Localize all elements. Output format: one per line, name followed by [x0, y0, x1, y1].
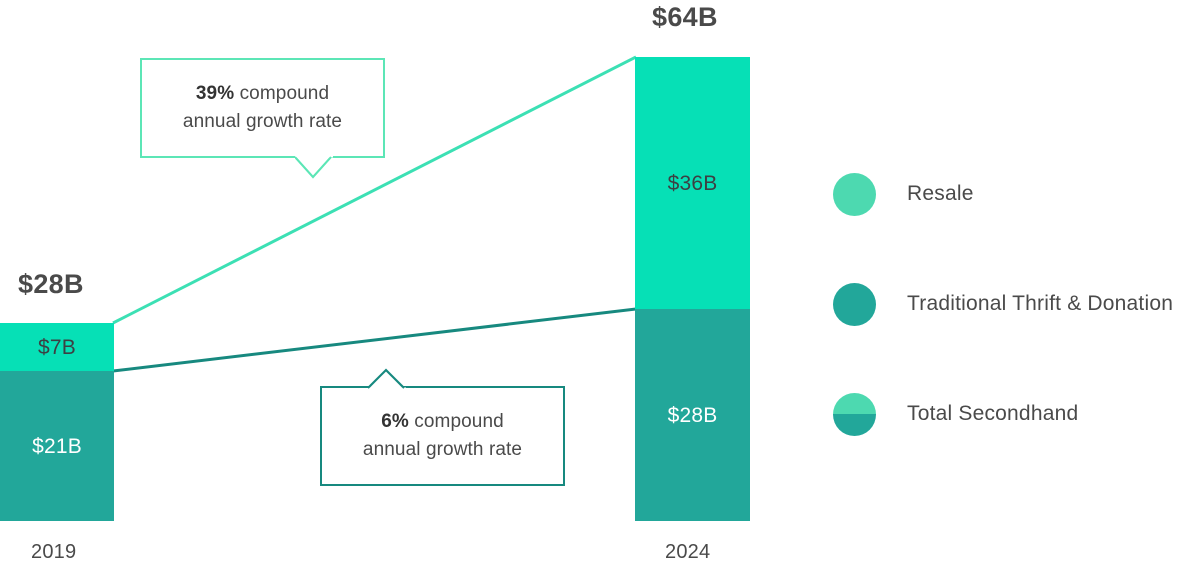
callout-resale-line2: annual growth rate — [183, 108, 342, 137]
legend-label-resale: Resale — [907, 182, 974, 206]
legend-label-total: Total Secondhand — [907, 402, 1078, 426]
callout-resale-line1-rest: compound — [234, 83, 329, 104]
resale-dot-icon — [833, 173, 876, 216]
x-axis-label-2019: 2019 — [31, 541, 76, 564]
bar-segment-thrift-2019[interactable]: $21B — [0, 371, 114, 521]
callout-resale-box: 39% compound annual growth rate — [140, 58, 385, 158]
bar-segment-label-resale-2024: $36B — [668, 173, 718, 194]
total-label-2024: $64B — [652, 2, 718, 33]
bar-segment-thrift-2024[interactable]: $28B — [635, 309, 750, 521]
x-axis-label-2024: 2024 — [665, 541, 710, 564]
legend-item-thrift[interactable]: Traditional Thrift & Donation — [833, 282, 1193, 326]
stacked-bar-chart: $28B $7B $21B $64B $36B $28B 2019 2024 3… — [0, 0, 1200, 584]
callout-thrift-box: 6% compound annual growth rate — [320, 386, 565, 486]
bar-segment-resale-2024[interactable]: $36B — [635, 57, 750, 309]
legend-label-thrift: Traditional Thrift & Donation — [907, 292, 1173, 316]
legend-item-resale[interactable]: Resale — [833, 172, 1193, 216]
bar-segment-label-resale-2019: $7B — [38, 337, 76, 358]
total-dot-bottom-half — [833, 414, 876, 436]
callout-resale-cagr: 39% compound annual growth rate — [140, 58, 385, 176]
thrift-dot-icon — [833, 283, 876, 326]
total-dot-top-half — [833, 393, 876, 415]
callout-thrift-line1: 6% compound — [381, 408, 504, 437]
bar-2024[interactable]: $36B $28B — [635, 57, 750, 521]
bar-segment-label-thrift-2024: $28B — [668, 405, 718, 426]
callout-thrift-line2: annual growth rate — [363, 436, 522, 465]
chart-legend: Resale Traditional Thrift & Donation Tot… — [833, 172, 1193, 436]
callout-thrift-rate: 6% — [381, 411, 409, 432]
total-dot-icon — [833, 393, 876, 436]
callout-resale-rate: 39% — [196, 83, 234, 104]
bar-segment-label-thrift-2019: $21B — [32, 436, 82, 457]
bar-2019[interactable]: $7B $21B — [0, 323, 114, 521]
total-label-2019: $28B — [18, 269, 84, 300]
callout-resale-line1: 39% compound — [196, 80, 329, 109]
legend-item-total[interactable]: Total Secondhand — [833, 392, 1193, 436]
callout-thrift-cagr: 6% compound annual growth rate — [320, 368, 565, 486]
bar-segment-resale-2019[interactable]: $7B — [0, 323, 114, 371]
callout-thrift-line1-rest: compound — [409, 411, 504, 432]
thrift-growth-line — [113, 309, 636, 371]
callout-resale-tail — [295, 155, 359, 179]
